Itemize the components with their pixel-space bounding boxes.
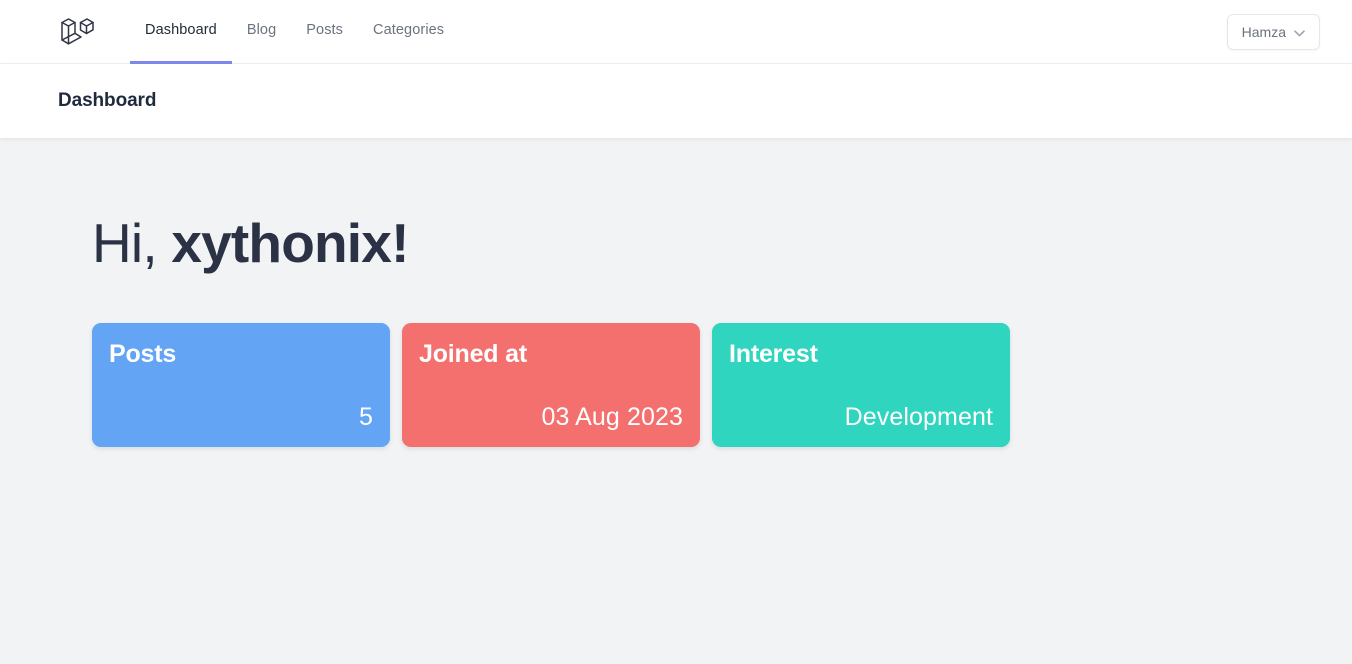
greeting-username: xythonix! xyxy=(171,212,408,274)
stat-cards: Posts 5 Joined at 03 Aug 2023 Interest D… xyxy=(92,323,1352,447)
stat-card-joined-at-value: 03 Aug 2023 xyxy=(419,404,683,432)
stat-card-interest-value: Development xyxy=(729,404,993,432)
top-navbar: Dashboard Blog Posts Categories Hamza xyxy=(0,0,1352,64)
user-menu-button[interactable]: Hamza xyxy=(1227,14,1320,50)
brand-logo-link[interactable] xyxy=(58,13,94,51)
laravel-logo-icon xyxy=(58,13,94,51)
stat-card-posts-value: 5 xyxy=(109,404,373,432)
nav-item-dashboard-label: Dashboard xyxy=(145,22,217,38)
greeting-prefix: Hi, xyxy=(92,212,157,274)
chevron-down-icon xyxy=(1294,24,1305,40)
page-header: Dashboard xyxy=(0,64,1352,138)
main-content: Hi, xythonix! Posts 5 Joined at 03 Aug 2… xyxy=(0,138,1352,447)
nav-item-categories-label: Categories xyxy=(373,22,444,38)
nav-item-dashboard[interactable]: Dashboard xyxy=(130,0,232,64)
stat-card-interest-title: Interest xyxy=(729,341,993,369)
primary-nav-links: Dashboard Blog Posts Categories xyxy=(130,0,459,64)
stat-card-joined-at-title: Joined at xyxy=(419,341,683,369)
nav-item-blog-label: Blog xyxy=(247,22,276,38)
nav-item-categories[interactable]: Categories xyxy=(358,0,459,64)
stat-card-interest[interactable]: Interest Development xyxy=(712,323,1010,447)
greeting-heading: Hi, xythonix! xyxy=(92,216,1352,271)
stat-card-posts-title: Posts xyxy=(109,341,373,369)
nav-item-posts[interactable]: Posts xyxy=(291,0,358,64)
nav-item-blog[interactable]: Blog xyxy=(232,0,291,64)
nav-item-posts-label: Posts xyxy=(306,22,343,38)
stat-card-posts[interactable]: Posts 5 xyxy=(92,323,390,447)
page-title: Dashboard xyxy=(58,90,156,112)
stat-card-joined-at[interactable]: Joined at 03 Aug 2023 xyxy=(402,323,700,447)
user-menu-label: Hamza xyxy=(1242,24,1286,40)
